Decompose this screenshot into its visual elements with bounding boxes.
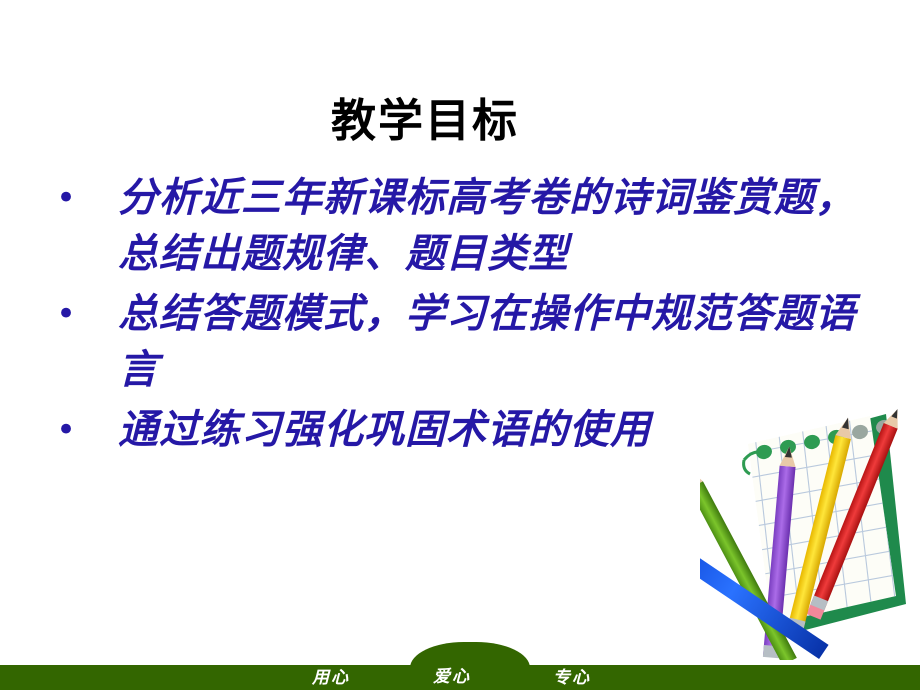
footer-word-aixin: 爱心 (433, 667, 471, 687)
bullet-dot-icon: • (46, 402, 118, 458)
bullet-dot-icon: • (46, 286, 118, 342)
list-item: • 分析近三年新课标高考卷的诗词鉴赏题，总结出题规律、题目类型 (46, 170, 876, 282)
footer-word-yongxin: 用心 (312, 668, 350, 688)
list-item-label: 分析近三年新课标高考卷的诗词鉴赏题，总结出题规律、题目类型 (118, 170, 876, 282)
footer-banner: 用心 爱心 专心 (0, 642, 920, 690)
page-title: 教学目标 (0, 96, 850, 146)
list-item-label: 总结答题模式，学习在操作中规范答题语言 (118, 286, 876, 398)
slide-canvas: 教学目标 • 分析近三年新课标高考卷的诗词鉴赏题，总结出题规律、题目类型 • 总… (0, 0, 920, 690)
list-item: • 总结答题模式，学习在操作中规范答题语言 (46, 286, 876, 398)
bullet-dot-icon: • (46, 170, 118, 226)
pencils-notebook-image (700, 408, 920, 660)
footer-word-zhuanxin: 专心 (553, 668, 591, 688)
